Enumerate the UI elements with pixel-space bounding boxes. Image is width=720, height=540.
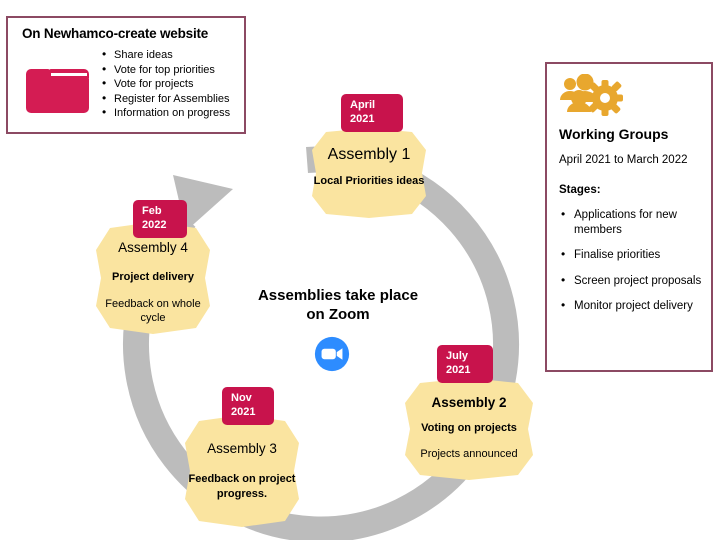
assembly-2-title: Assembly 2: [431, 395, 506, 410]
list-item: Finalise priorities: [559, 248, 705, 263]
list-item: Screen project proposals: [559, 274, 705, 289]
diagram-canvas: Assembly 1 Local Priorities ideas April …: [0, 0, 720, 540]
list-item: Vote for top priorities: [100, 63, 250, 78]
assembly-4-plain: Feedback on whole cycle: [103, 297, 203, 325]
assembly-4-date-chip: Feb 2022: [133, 200, 187, 238]
assembly-3-bold: Feedback on project progress.: [180, 472, 304, 502]
assembly-3-node[interactable]: Assembly 3 Feedback on project progress.: [180, 415, 304, 527]
assembly-2-bold: Voting on projects: [400, 422, 538, 434]
list-item: Register for Assemblies: [100, 92, 250, 107]
list-item: Vote for projects: [100, 77, 250, 92]
website-panel-title: On Newhamco-create website: [22, 26, 208, 41]
list-item: Monitor project delivery: [559, 299, 705, 314]
working-groups-dates: April 2021 to March 2022: [559, 154, 688, 166]
website-panel-list: Share ideas Vote for top priorities Vote…: [100, 48, 250, 121]
working-groups-stages-label: Stages:: [559, 184, 601, 196]
assembly-3-title: Assembly 3: [180, 441, 304, 456]
assembly-3-date-chip: Nov 2021: [222, 387, 274, 425]
list-item: Applications for new members: [559, 208, 705, 237]
centre-caption: Assemblies take place on Zoom: [248, 286, 428, 324]
assembly-2-node[interactable]: Assembly 2 Voting on projects Projects a…: [400, 378, 538, 480]
working-groups-title: Working Groups: [559, 126, 668, 142]
assembly-1-bold: Local Priorities ideas: [308, 175, 430, 187]
assembly-1-shape: [308, 128, 430, 218]
assembly-1-title: Assembly 1: [308, 146, 430, 164]
list-item: Share ideas: [100, 48, 250, 63]
assembly-4-bold: Project delivery: [91, 271, 215, 283]
working-groups-stage-list: Applications for new members Finalise pr…: [559, 208, 705, 325]
working-groups-panel: Working Groups April 2021 to March 2022 …: [545, 62, 713, 372]
assembly-1-node[interactable]: Assembly 1 Local Priorities ideas: [308, 128, 430, 218]
people-gear-icon: [557, 74, 623, 116]
folder-icon: [24, 62, 90, 114]
assembly-3-shape: [180, 415, 304, 527]
zoom-video-camera-icon: [313, 335, 351, 373]
assembly-4-node[interactable]: Assembly 4 Project delivery Feedback on …: [91, 222, 215, 334]
list-item: Information on progress: [100, 106, 250, 121]
assembly-4-title: Assembly 4: [91, 240, 215, 255]
assembly-2-date-chip: July 2021: [437, 345, 493, 383]
assembly-2-plain: Projects announced: [400, 448, 538, 460]
assembly-1-date-chip: April 2021: [341, 94, 403, 132]
website-panel: On Newhamco-create website Share ideas V…: [6, 16, 246, 134]
